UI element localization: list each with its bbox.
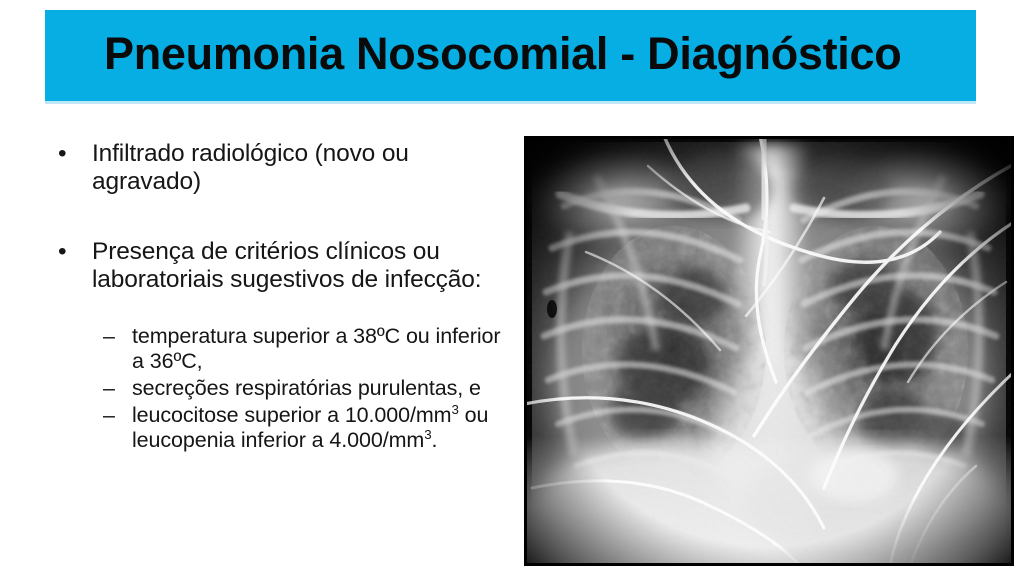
sub-bullet-item-leucocitose: – leucocitose superior a 10.000/mm3 ou l…: [48, 403, 508, 453]
sub-bullet-text: temperatura superior a 38ºC ou inferior …: [132, 324, 508, 374]
sub-bullet-text: secreções respiratórias purulentas, e: [132, 376, 508, 401]
slide: Pneumonia Nosocomial - Diagnóstico • Inf…: [0, 0, 1024, 576]
chest-xray-graphic: [524, 136, 1014, 566]
bullet-text: Presença de critérios clínicos ou labora…: [92, 238, 508, 294]
bullet-marker-dash: –: [103, 376, 125, 401]
chest-xray-image: [524, 136, 1014, 566]
page-title: Pneumonia Nosocomial - Diagnóstico: [104, 23, 944, 85]
sub-bullet-list: – temperatura superior a 38ºC ou inferio…: [48, 324, 508, 453]
bullet-column: • Infiltrado radiológico (novo ou agrava…: [48, 140, 508, 455]
bullet-text: Infiltrado radiológico (novo ou agravado…: [92, 140, 508, 196]
sub-bullet-text: leucocitose superior a 10.000/mm3 ou leu…: [132, 403, 508, 453]
bullet-marker-dash: –: [103, 403, 125, 428]
sub-bullet-item-secrecoes: – secreções respiratórias purulentas, e: [48, 376, 508, 401]
sub-bullet-item-temperatura: – temperatura superior a 38ºC ou inferio…: [48, 324, 508, 374]
bullet-item-criterios: • Presença de critérios clínicos ou labo…: [48, 238, 508, 294]
bullet-marker-dash: –: [103, 324, 125, 349]
bullet-marker-dot: •: [58, 140, 78, 168]
bullet-marker-dot: •: [58, 238, 78, 266]
title-banner-underline: [45, 101, 976, 104]
bullet-item-infiltrado: • Infiltrado radiológico (novo ou agrava…: [48, 140, 508, 196]
